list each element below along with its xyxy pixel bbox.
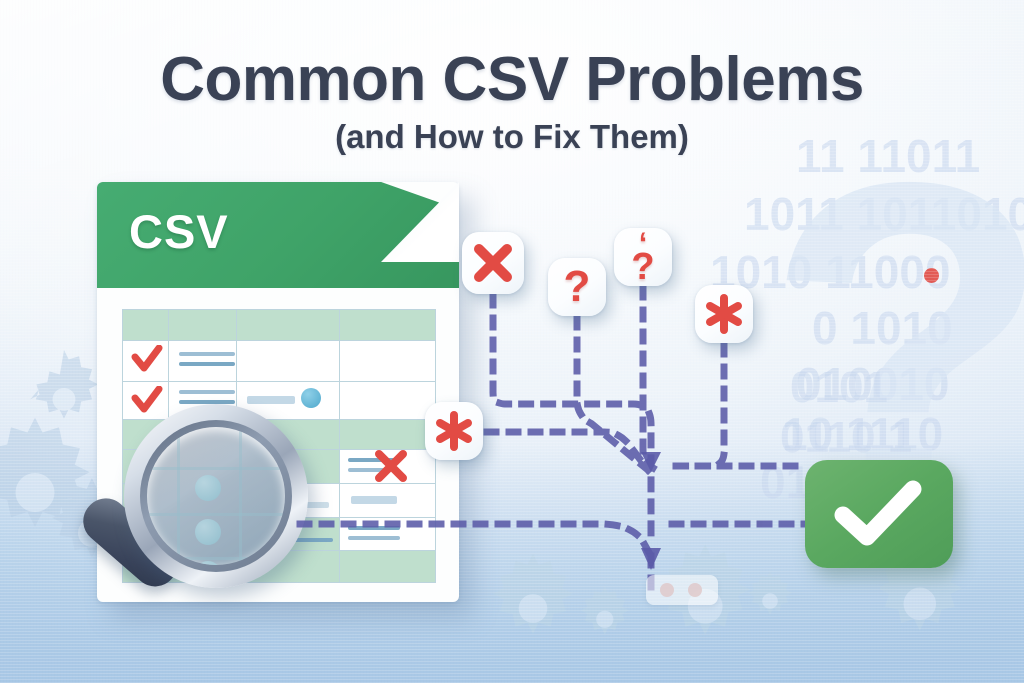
question-mark-glyph: ? [631,250,654,284]
asterisk-badge[interactable] [695,285,753,343]
connector-lower-left [300,524,651,556]
success-badge[interactable] [805,460,953,568]
check-icon [833,479,925,549]
asterisk-icon [434,411,474,451]
connector-x-badge [493,296,651,536]
mini-dot [688,583,702,597]
mini-dot [660,583,674,597]
arrow-head-lower [641,548,661,570]
asterisk-icon [704,294,744,334]
encoding-badge[interactable]: ‘ ? [614,228,672,286]
x-badge[interactable] [462,232,524,294]
mini-record-card [646,575,718,605]
connector-asterisk-badge [672,345,724,466]
question-mark-glyph: ? [564,262,591,312]
star-badge[interactable] [425,402,483,460]
question-badge[interactable]: ? [548,258,606,316]
connector-question-badge [577,318,648,470]
connector-paths [0,0,1024,683]
illustration-canvas: 11 11011 1011 1011010 1010 11000 0 1010 … [0,0,1024,683]
x-icon [471,241,515,285]
